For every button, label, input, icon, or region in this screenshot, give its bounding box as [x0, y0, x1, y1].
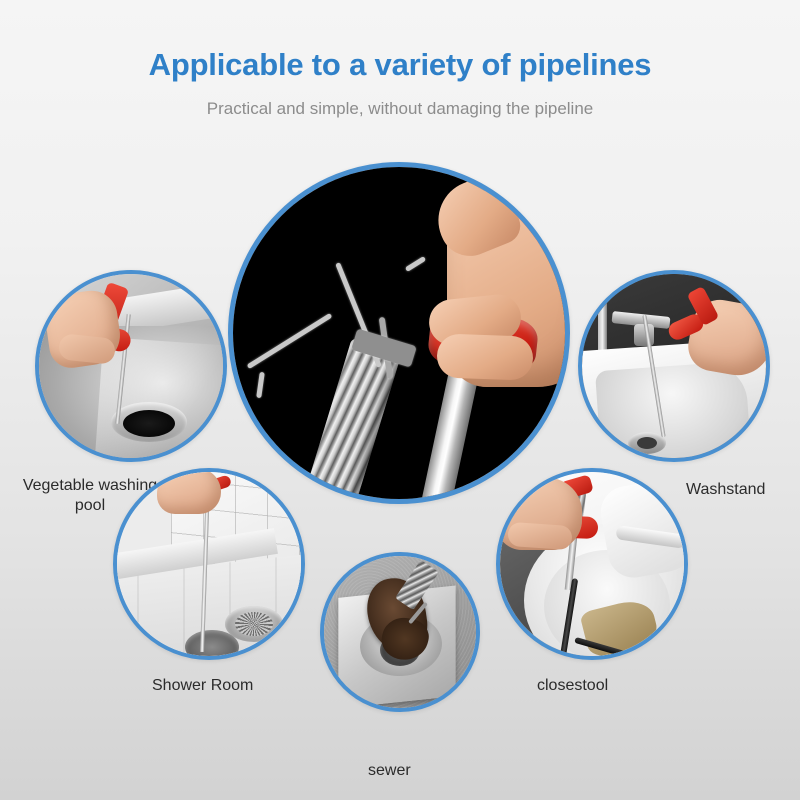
photo-sewer [320, 552, 480, 712]
label-washstand: Washstand [686, 480, 765, 500]
scene-closestool [500, 472, 684, 656]
label-closestool: closestool [537, 676, 608, 696]
basin-drain-hole [637, 437, 657, 449]
photo-hero-tool [228, 162, 570, 504]
header: Applicable to a variety of pipelines Pra… [0, 0, 800, 119]
sink-reflection [95, 337, 227, 462]
label-shower-room: Shower Room [152, 676, 253, 696]
hand-finger [507, 522, 573, 550]
scene-washstand [582, 274, 766, 458]
photo-washstand [578, 270, 770, 462]
claw-jaw-left [247, 313, 333, 369]
label-sewer: sewer [368, 761, 411, 781]
photo-vegetable-washing-pool [35, 270, 227, 462]
basin-bowl [595, 361, 751, 462]
page-title: Applicable to a variety of pipelines [0, 47, 800, 83]
scene-hero [233, 167, 565, 499]
sink-drain-hole [123, 410, 175, 437]
scene-shower-room [117, 472, 301, 656]
hand-finger-lower [436, 333, 533, 380]
floor-drain-grate [235, 612, 273, 636]
claw-jaw-right-tip [405, 256, 426, 272]
page-subtitle: Practical and simple, without damaging t… [0, 99, 800, 119]
scene-vegetable-washing-pool [39, 274, 223, 458]
hand-palm [157, 468, 221, 514]
scene-sewer [324, 556, 476, 708]
floor-drain-open [185, 630, 239, 660]
claw-jaw-left-tip [256, 372, 265, 398]
